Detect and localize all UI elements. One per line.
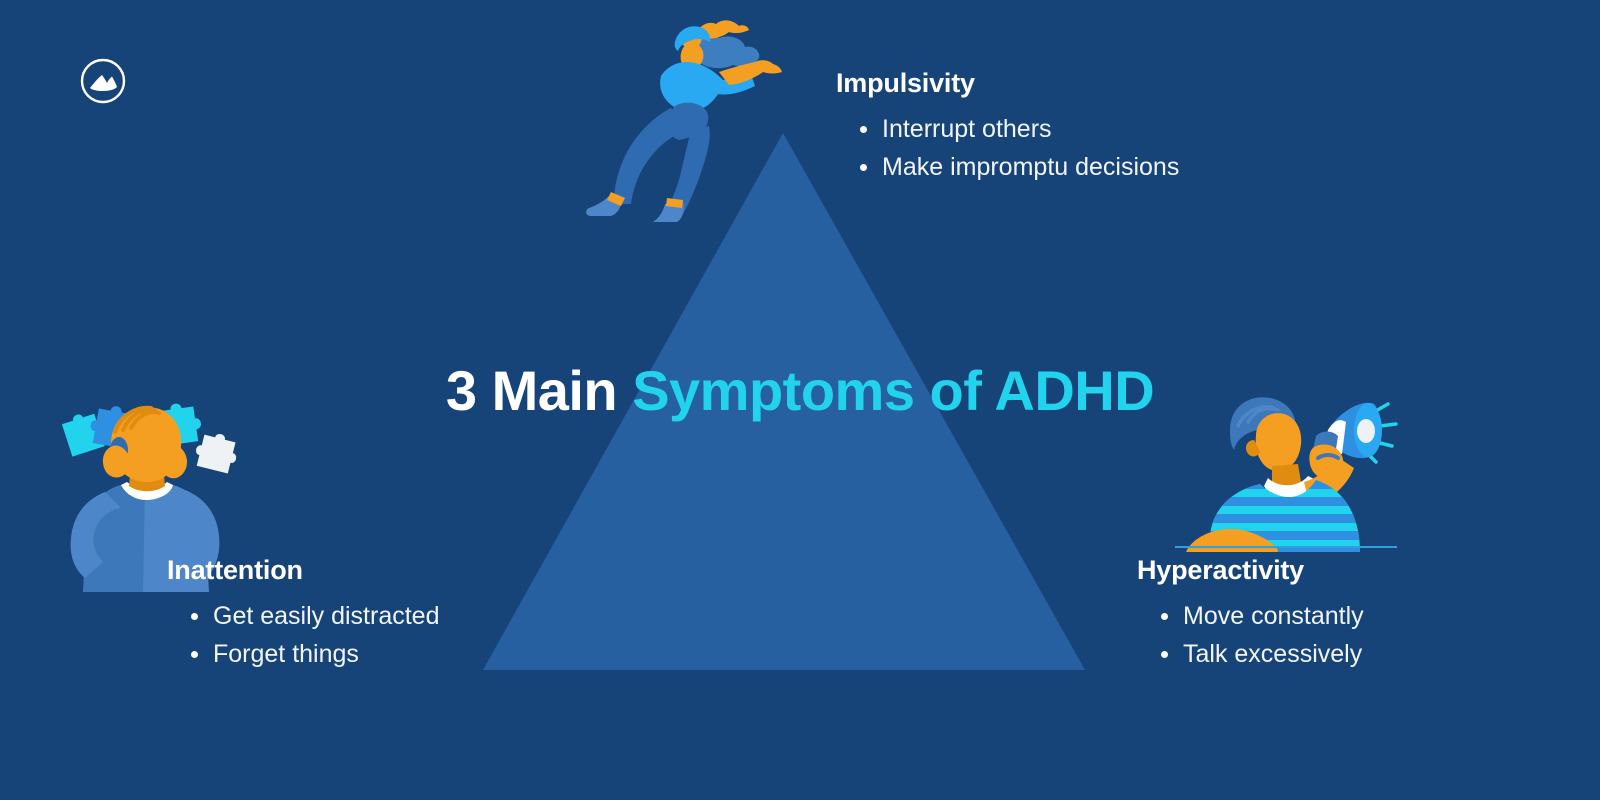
bullet-text: Move constantly <box>1183 602 1364 630</box>
bullet-dot-icon <box>860 126 867 133</box>
leaping-person-illustration <box>583 12 793 224</box>
symptom-heading-impulsivity: Impulsivity <box>836 67 1179 99</box>
title-cyan-part: Symptoms of ADHD <box>632 359 1154 422</box>
title-white-part: 3 Main <box>446 359 617 422</box>
bullet-dot-icon <box>191 613 198 620</box>
symptom-block-hyperactivity: Hyperactivity Move constantly Talk exces… <box>1137 554 1364 673</box>
bullet-dot-icon <box>860 164 867 171</box>
symptom-bullets-impulsivity: Interrupt others Make impromptu decision… <box>836 110 1179 186</box>
page-title: 3 Main Symptoms of ADHD <box>0 355 1600 427</box>
bullet-dot-icon <box>191 651 198 658</box>
symptom-block-impulsivity: Impulsivity Interrupt others Make improm… <box>836 67 1179 186</box>
circular-mountain-logo-icon[interactable] <box>79 57 127 105</box>
bullet-text: Talk excessively <box>1183 640 1362 668</box>
bullet-dot-icon <box>1161 651 1168 658</box>
list-item: Make impromptu decisions <box>882 148 1179 186</box>
infographic-canvas: 3 Main Symptoms of ADHD Impulsivity Inte… <box>0 0 1600 800</box>
bullet-text: Forget things <box>213 640 359 668</box>
bullet-text: Get easily distracted <box>213 602 440 630</box>
symptom-bullets-hyperactivity: Move constantly Talk excessively <box>1137 597 1364 673</box>
symptom-heading-inattention: Inattention <box>167 554 440 586</box>
symptom-bullets-inattention: Get easily distracted Forget things <box>167 597 440 673</box>
bullet-text: Make impromptu decisions <box>882 153 1179 181</box>
list-item: Forget things <box>213 635 440 673</box>
symptom-heading-hyperactivity: Hyperactivity <box>1137 554 1364 586</box>
list-item: Interrupt others <box>882 110 1179 148</box>
symptom-block-inattention: Inattention Get easily distracted Forget… <box>167 554 440 673</box>
bullet-text: Interrupt others <box>882 115 1052 143</box>
hyperactivity-underline <box>1175 546 1397 548</box>
list-item: Talk excessively <box>1183 635 1364 673</box>
list-item: Get easily distracted <box>213 597 440 635</box>
list-item: Move constantly <box>1183 597 1364 635</box>
bullet-dot-icon <box>1161 613 1168 620</box>
